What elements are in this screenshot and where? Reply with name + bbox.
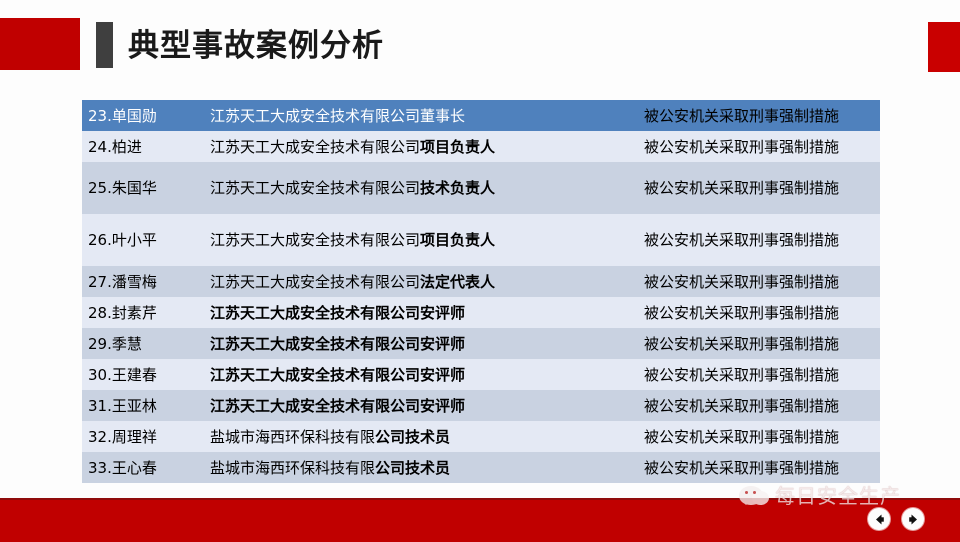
red-block-left-decoration [0,18,80,70]
slide-canvas: 典型事故案例分析 23.单国勋江苏天工大成安全技术有限公司董事长被公安机关采取刑… [0,0,960,540]
table-row: 29.季慧江苏天工大成安全技术有限公司安评师被公安机关采取刑事强制措施 [82,328,880,359]
slide-navigation [868,508,924,530]
org-normal-text: 江苏天工大成安全技术有限公司 [210,138,420,156]
org-bold-text: 公司技术员 [375,459,450,477]
cell-name: 23.单国勋 [82,100,204,131]
cell-organization: 盐城市海西环保科技有限公司技术员 [204,452,638,483]
table-row: 31.王亚林江苏天工大成安全技术有限公司安评师被公安机关采取刑事强制措施 [82,390,880,421]
cell-organization: 盐城市海西环保科技有限公司技术员 [204,421,638,452]
table-row: 23.单国勋江苏天工大成安全技术有限公司董事长被公安机关采取刑事强制措施 [82,100,880,131]
cell-action: 被公安机关采取刑事强制措施 [638,328,880,359]
cell-name: 32.周理祥 [82,421,204,452]
org-bold-text: 公司技术员 [375,428,450,446]
wechat-icon [735,482,769,508]
cell-action: 被公安机关采取刑事强制措施 [638,131,880,162]
cell-name: 25.朱国华 [82,162,204,214]
org-normal-text: 江苏天工大成安全技术有限公司 [210,179,420,197]
table-row: 33.王心春盐城市海西环保科技有限公司技术员被公安机关采取刑事强制措施 [82,452,880,483]
cell-name: 30.王建春 [82,359,204,390]
watermark-label: 每日安全生产 [775,480,901,509]
cell-name: 29.季慧 [82,328,204,359]
table-row: 28.封素芹江苏天工大成安全技术有限公司安评师被公安机关采取刑事强制措施 [82,297,880,328]
org-bold-text: 项目负责人 [420,138,495,156]
cell-action: 被公安机关采取刑事强制措施 [638,100,880,131]
grey-accent-block-decoration [96,22,113,68]
cell-organization: 江苏天工大成安全技术有限公司法定代表人 [204,266,638,297]
cell-action: 被公安机关采取刑事强制措施 [638,214,880,266]
case-table-body: 23.单国勋江苏天工大成安全技术有限公司董事长被公安机关采取刑事强制措施24.柏… [82,100,880,483]
table-row: 25.朱国华江苏天工大成安全技术有限公司技术负责人被公安机关采取刑事强制措施 [82,162,880,214]
red-block-right-decoration [928,22,960,72]
cell-organization: 江苏天工大成安全技术有限公司技术负责人 [204,162,638,214]
cell-name: 24.柏进 [82,131,204,162]
case-table-container: 23.单国勋江苏天工大成安全技术有限公司董事长被公安机关采取刑事强制措施24.柏… [82,100,880,483]
cell-action: 被公安机关采取刑事强制措施 [638,390,880,421]
org-normal-text: 江苏天工大成安全技术有限公司 [210,231,420,249]
next-slide-button[interactable] [902,508,924,530]
cell-name: 26.叶小平 [82,214,204,266]
org-bold-text: 江苏天工大成安全技术有限公司安评师 [210,304,465,322]
cell-organization: 江苏天工大成安全技术有限公司项目负责人 [204,214,638,266]
cell-organization: 江苏天工大成安全技术有限公司安评师 [204,297,638,328]
cell-action: 被公安机关采取刑事强制措施 [638,297,880,328]
cell-name: 31.王亚林 [82,390,204,421]
cell-name: 28.封素芹 [82,297,204,328]
case-table: 23.单国勋江苏天工大成安全技术有限公司董事长被公安机关采取刑事强制措施24.柏… [82,100,880,483]
cell-action: 被公安机关采取刑事强制措施 [638,162,880,214]
watermark: 每日安全生产 [735,480,901,509]
org-normal-text: 盐城市海西环保科技有限 [210,459,375,477]
org-bold-text: 技术负责人 [420,179,495,197]
cell-action: 被公安机关采取刑事强制措施 [638,266,880,297]
cell-organization: 江苏天工大成安全技术有限公司安评师 [204,359,638,390]
org-normal-text: 江苏天工大成安全技术有限公司 [210,273,420,291]
cell-name: 27.潘雪梅 [82,266,204,297]
cell-action: 被公安机关采取刑事强制措施 [638,452,880,483]
org-bold-text: 江苏天工大成安全技术有限公司安评师 [210,335,465,353]
table-row: 32.周理祥盐城市海西环保科技有限公司技术员被公安机关采取刑事强制措施 [82,421,880,452]
table-row: 30.王建春江苏天工大成安全技术有限公司安评师被公安机关采取刑事强制措施 [82,359,880,390]
arrow-left-icon [873,513,886,526]
table-row: 26.叶小平江苏天工大成安全技术有限公司项目负责人被公安机关采取刑事强制措施 [82,214,880,266]
cell-organization: 江苏天工大成安全技术有限公司董事长 [204,100,638,131]
org-bold-text: 江苏天工大成安全技术有限公司安评师 [210,366,465,384]
page-title: 典型事故案例分析 [128,24,384,68]
cell-action: 被公安机关采取刑事强制措施 [638,359,880,390]
org-bold-text: 法定代表人 [420,273,495,291]
arrow-right-icon [907,513,920,526]
prev-slide-button[interactable] [868,508,890,530]
table-row: 24.柏进江苏天工大成安全技术有限公司项目负责人被公安机关采取刑事强制措施 [82,131,880,162]
cell-organization: 江苏天工大成安全技术有限公司安评师 [204,390,638,421]
cell-action: 被公安机关采取刑事强制措施 [638,421,880,452]
cell-name: 33.王心春 [82,452,204,483]
org-bold-text: 江苏天工大成安全技术有限公司安评师 [210,397,465,415]
org-bold-text: 项目负责人 [420,231,495,249]
cell-organization: 江苏天工大成安全技术有限公司项目负责人 [204,131,638,162]
table-row: 27.潘雪梅江苏天工大成安全技术有限公司法定代表人被公安机关采取刑事强制措施 [82,266,880,297]
org-normal-text: 盐城市海西环保科技有限 [210,428,375,446]
org-normal-text: 江苏天工大成安全技术有限公司董事长 [210,107,465,125]
cell-organization: 江苏天工大成安全技术有限公司安评师 [204,328,638,359]
